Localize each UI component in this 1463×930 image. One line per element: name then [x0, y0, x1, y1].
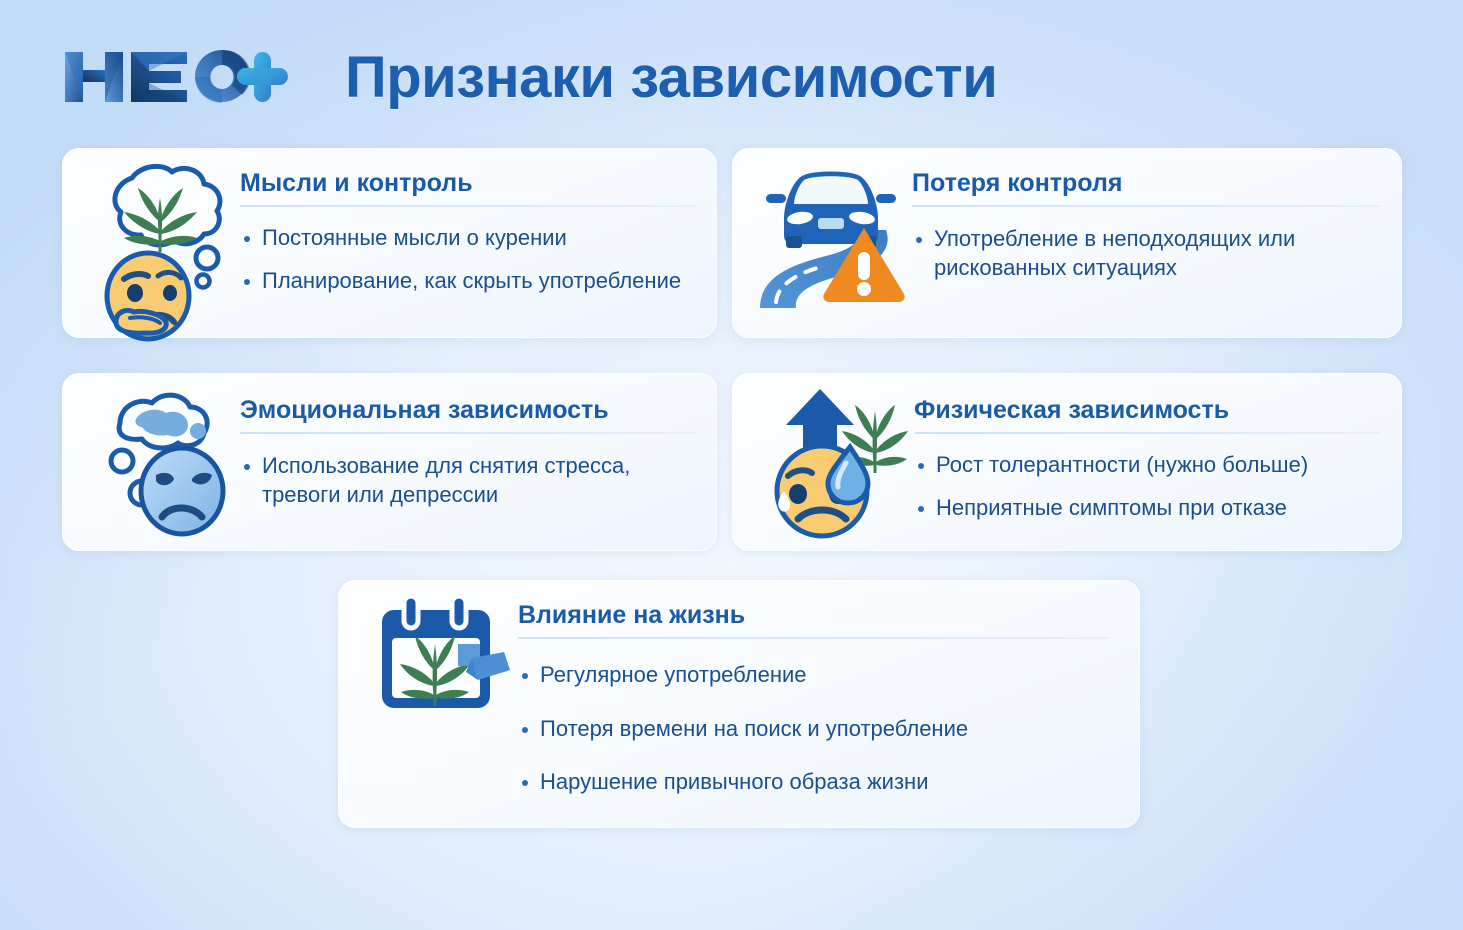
list-item: Рост толерантности (нужно больше) — [914, 451, 1380, 480]
card-body: Физическая зависимость Рост толерантност… — [914, 397, 1380, 522]
list-item: Неприятные симптомы при отказе — [914, 494, 1380, 523]
bullet-list: Рост толерантности (нужно больше) Неприя… — [914, 451, 1380, 522]
list-item: Потеря времени на поиск и употребление — [518, 715, 1110, 744]
list-item: Постоянные мысли о курении — [240, 224, 695, 253]
page-header: Признаки зависимости — [0, 0, 1463, 140]
card-body: Потеря контроля Употребление в неподходя… — [912, 170, 1380, 282]
list-item: Нарушение привычного образа жизни — [518, 768, 1110, 797]
bullet-list: Использование для снятия стресса, тревог… — [240, 452, 695, 509]
title-divider — [914, 432, 1380, 434]
page-title: Признаки зависимости — [345, 44, 997, 111]
title-divider — [518, 637, 1110, 639]
infographic-page: Признаки зависимости — [0, 0, 1463, 930]
card-emotional-dependence[interactable]: Эмоциональная зависимость Использование … — [62, 373, 717, 551]
bullet-list: Регулярное употребление Потеря времени н… — [518, 661, 1110, 797]
list-item: Употребление в неподходящих или рискован… — [912, 225, 1380, 282]
card-title: Физическая зависимость — [914, 397, 1380, 423]
card-title: Влияние на жизнь — [518, 602, 1110, 628]
blue-sad-face-with-thought-cloud-icon — [94, 387, 244, 539]
neo-plus-logo — [63, 44, 281, 110]
thinking-face-with-cannabis-thought-bubble-icon — [86, 162, 236, 334]
sweating-sad-face-with-up-arrow-and-leaf-icon — [758, 381, 916, 541]
car-on-road-with-warning-triangle-icon — [754, 156, 912, 316]
card-title: Мысли и контроль — [240, 170, 695, 196]
title-divider — [912, 205, 1380, 207]
list-item: Регулярное употребление — [518, 661, 1110, 690]
card-title: Эмоциональная зависимость — [240, 397, 695, 423]
card-body: Эмоциональная зависимость Использование … — [240, 397, 695, 509]
title-divider — [240, 432, 695, 434]
bullet-list: Постоянные мысли о курении Планирование,… — [240, 224, 695, 295]
card-body: Влияние на жизнь Регулярное употребление… — [518, 602, 1110, 797]
card-body: Мысли и контроль Постоянные мысли о куре… — [240, 170, 695, 295]
bullet-list: Употребление в неподходящих или рискован… — [912, 225, 1380, 282]
card-title: Потеря контроля — [912, 170, 1380, 196]
card-thoughts-and-control[interactable]: Мысли и контроль Постоянные мысли о куре… — [62, 148, 717, 338]
card-impact-on-life[interactable]: Влияние на жизнь Регулярное употребление… — [338, 580, 1140, 828]
calendar-with-cannabis-leaf-icon — [374, 594, 516, 716]
card-loss-of-control[interactable]: Потеря контроля Употребление в неподходя… — [732, 148, 1402, 338]
title-divider — [240, 205, 695, 207]
card-physical-dependence[interactable]: Физическая зависимость Рост толерантност… — [732, 373, 1402, 551]
list-item: Планирование, как скрыть употребление — [240, 267, 695, 296]
list-item: Использование для снятия стресса, тревог… — [240, 452, 695, 509]
